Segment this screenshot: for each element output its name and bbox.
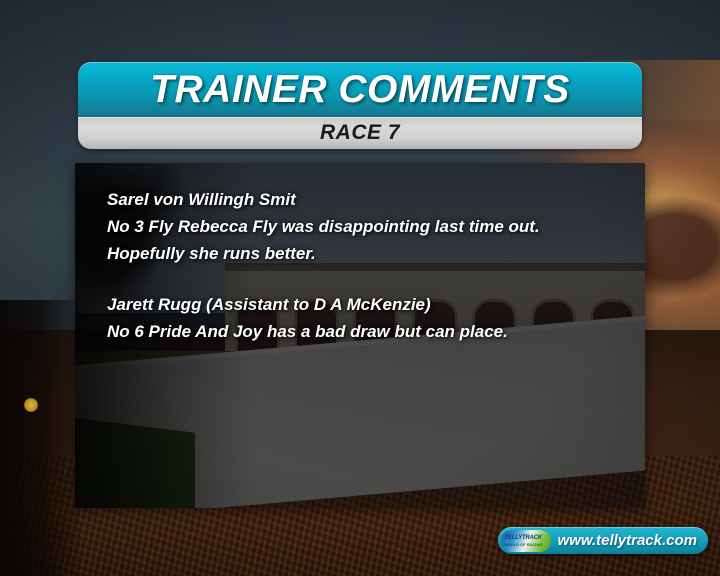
trainer-comments-list: Sarel von Willingh Smit No 3 Fly Rebecca…: [107, 186, 627, 345]
comment-line: No 6 Pride And Joy has a bad draw but ca…: [107, 318, 627, 345]
tellytrack-watermark[interactable]: TELLYTRACK WORLD OF RACING www.tellytrac…: [498, 527, 709, 554]
trainer-name: Sarel von Willingh Smit: [107, 186, 627, 213]
header-subtitle-bar: RACE 7: [78, 117, 642, 149]
broadcast-graphic-scene: TRAINER COMMENTS RACE 7 Sarel von Willin…: [0, 0, 720, 576]
logo-secondary-text: WORLD OF RACING: [505, 543, 543, 547]
logo-primary-text: TELLYTRACK: [505, 535, 543, 541]
trainer-comment-block: Sarel von Willingh Smit No 3 Fly Rebecca…: [107, 186, 627, 267]
website-url: www.tellytrack.com: [558, 532, 698, 549]
race-number-label: RACE 7: [320, 121, 400, 145]
page-title: TRAINER COMMENTS: [150, 68, 570, 112]
comment-line: Hopefully she runs better.: [107, 240, 627, 267]
comment-line: No 3 Fly Rebecca Fly was disappointing l…: [107, 213, 627, 240]
trainer-name: Jarett Rugg (Assistant to D A McKenzie): [107, 291, 627, 318]
header-title-bar: TRAINER COMMENTS: [78, 62, 642, 117]
trainer-comment-block: Jarett Rugg (Assistant to D A McKenzie) …: [107, 291, 627, 345]
tellytrack-logo-icon: TELLYTRACK WORLD OF RACING: [501, 530, 551, 552]
header-banner: TRAINER COMMENTS RACE 7: [78, 62, 642, 149]
